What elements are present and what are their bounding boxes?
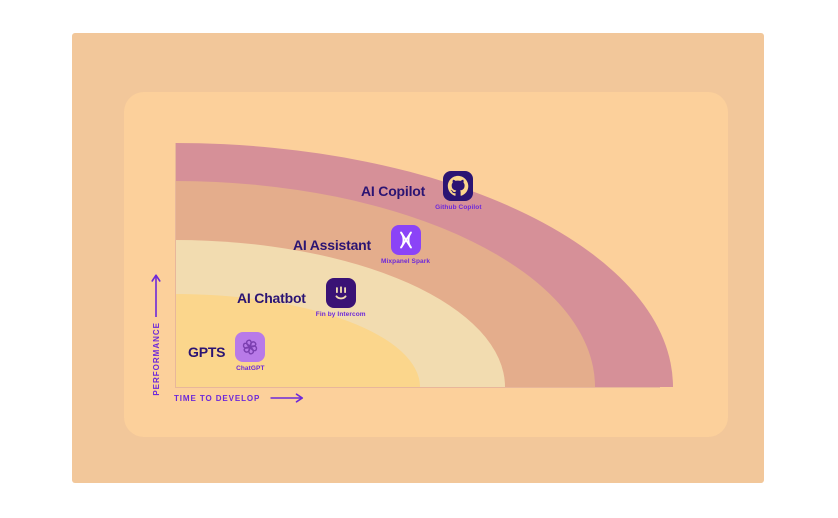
y-axis-label: PERFORMANCE — [152, 322, 161, 396]
marker-label-ai-copilot: AI Copilot — [361, 183, 425, 199]
logo-mixpanel-spark: Mixpanel Spark — [381, 225, 430, 265]
github-icon — [443, 171, 473, 201]
logo-caption-chatgpt: ChatGPT — [236, 365, 265, 372]
chatgpt-icon — [235, 332, 265, 362]
marker-label-ai-chatbot: AI Chatbot — [237, 290, 306, 306]
x-axis: TIME TO DEVELOP — [174, 392, 304, 404]
marker-ai-assistant: AI Assistant Mixpanel Spark — [293, 225, 430, 265]
marker-label-gpts: GPTS — [188, 344, 225, 360]
arrow-up-icon — [150, 272, 162, 318]
logo-github-copilot: Github Copilot — [435, 171, 482, 211]
logo-caption-fin-intercom: Fin by Intercom — [316, 311, 366, 318]
intercom-fin-icon — [326, 278, 356, 308]
y-axis: PERFORMANCE — [145, 272, 167, 396]
mixpanel-spark-icon — [391, 225, 421, 255]
logo-chatgpt: ChatGPT — [235, 332, 265, 372]
logo-caption-mixpanel-spark: Mixpanel Spark — [381, 258, 430, 265]
marker-ai-chatbot: AI Chatbot Fin by Intercom — [237, 278, 366, 318]
logo-fin-intercom: Fin by Intercom — [316, 278, 366, 318]
x-axis-rule — [175, 387, 660, 388]
arrow-right-icon — [270, 392, 304, 404]
x-axis-label: TIME TO DEVELOP — [174, 394, 260, 403]
chart-canvas: AI Copilot Github Copilot AI Assistant M — [0, 0, 838, 518]
marker-ai-copilot: AI Copilot Github Copilot — [361, 171, 482, 211]
y-axis-rule — [175, 143, 176, 388]
marker-gpts: GPTS ChatGPT — [188, 332, 265, 372]
marker-label-ai-assistant: AI Assistant — [293, 237, 371, 253]
logo-caption-github-copilot: Github Copilot — [435, 204, 482, 211]
